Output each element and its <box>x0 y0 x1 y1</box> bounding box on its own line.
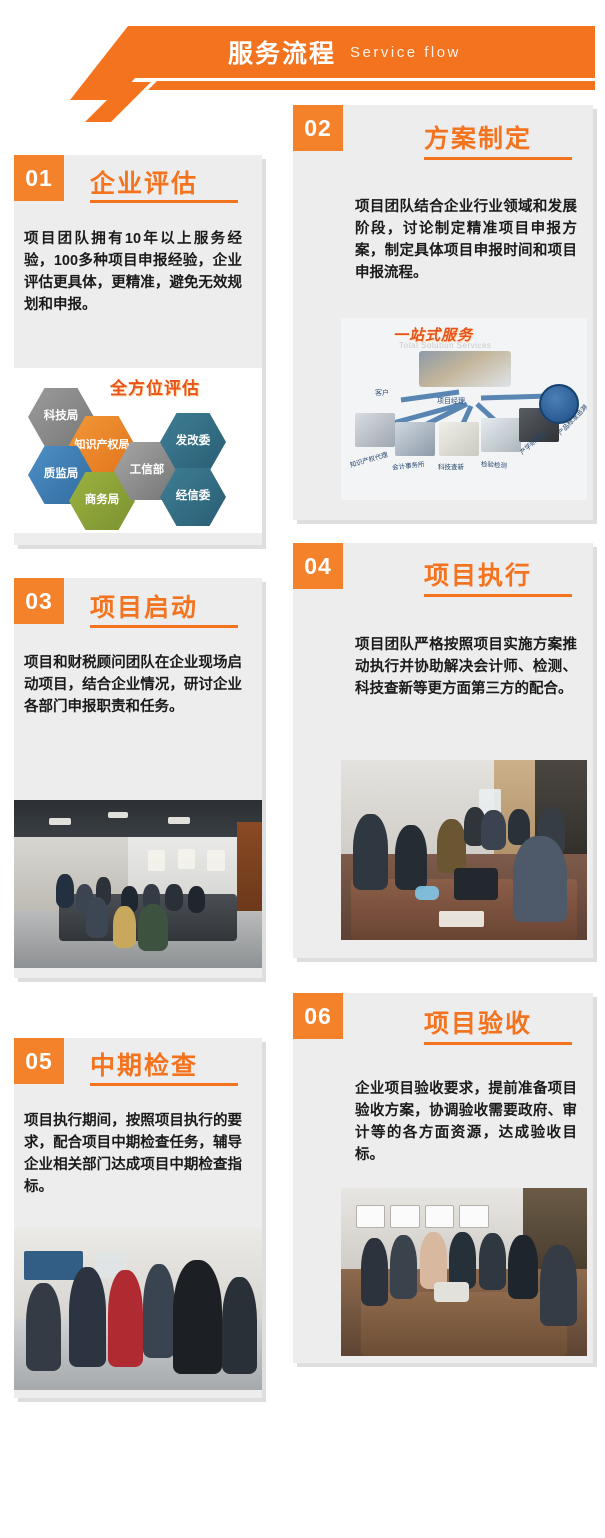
one-stop-thumb-3 <box>439 422 479 456</box>
step-title-01: 企业评估 <box>90 164 198 200</box>
header-banner: 服务流程 Service flow <box>0 0 605 100</box>
service-flow-infographic: 服务流程 Service flow 01 企业评估 项目团队拥有10年以上服务经… <box>0 0 605 1538</box>
one-stop-thumb-2 <box>395 422 435 456</box>
step-title-rule-03 <box>90 625 238 628</box>
step-title-03: 项目启动 <box>90 588 198 624</box>
one-stop-thumb-1 <box>355 413 395 447</box>
page-subtitle: Service flow <box>350 44 461 61</box>
one-stop-hero-photo <box>419 351 511 387</box>
step-title-02: 方案制定 <box>424 119 532 155</box>
step-number-badge-06: 06 <box>293 993 343 1039</box>
page-title: 服务流程 <box>228 34 336 70</box>
photo-boardroom <box>341 1188 587 1356</box>
step-number-badge-05: 05 <box>14 1038 64 1084</box>
step-body-06: 企业项目验收要求，提前准备项目验收方案，协调验收需要政府、审计等的各方面资源，达… <box>355 1078 577 1166</box>
step-body-02: 项目团队结合企业行业领域和发展阶段，讨论制定精准项目申报方案，制定具体项目申报时… <box>355 196 577 284</box>
one-stop-label-pm: 项目经理 <box>437 396 465 406</box>
one-stop-service-diagram: 一站式服务 Total Solution Services 客户 项目经理 知识… <box>341 318 587 500</box>
step-body-05: 项目执行期间，按照项目执行的要求，配合项目中期检查任务，辅导企业相关部门达成项目… <box>24 1110 242 1198</box>
one-stop-thumb-4 <box>481 418 521 452</box>
step-title-rule-02 <box>424 157 572 160</box>
header-underline-stripe <box>148 81 595 90</box>
photo-conference-room <box>14 800 262 968</box>
step-number-badge-01: 01 <box>14 155 64 201</box>
hexagon-assessment-diagram: 全方位评估 科技局 知识产权局 质监局 商务局 工信部 发改委 经信委 <box>14 368 262 533</box>
step-number-badge-02: 02 <box>293 105 343 151</box>
step-body-03: 项目和财税顾问团队在企业现场启动项目，结合企业情况，研讨企业各部门申报职责和任务… <box>24 652 242 718</box>
header-title-group: 服务流程 Service flow <box>228 30 461 74</box>
photo-site-visit <box>14 1228 262 1390</box>
step-title-05: 中期检查 <box>90 1046 198 1082</box>
step-body-01: 项目团队拥有10年以上服务经验，100多种项目申报经验，企业评估更具体，更精准，… <box>24 228 242 316</box>
photo-meeting-laptops <box>341 760 587 940</box>
step-title-rule-04 <box>424 594 572 597</box>
step-number-badge-03: 03 <box>14 578 64 624</box>
one-stop-caption-4: 检验检测 <box>481 458 508 470</box>
hex-diagram-title: 全方位评估 <box>110 374 200 399</box>
one-stop-caption-3: 科技查新 <box>438 461 464 471</box>
footer-banner: 全国统一热线： 400-150-1560 <box>0 1420 605 1530</box>
one-stop-label-customer: 客户 <box>375 388 389 398</box>
step-body-04: 项目团队严格按照项目实施方案推动执行并协助解决会计师、检测、科技查新等更方面第三… <box>355 634 577 700</box>
step-title-rule-01 <box>90 200 238 203</box>
step-title-06: 项目验收 <box>424 1004 532 1040</box>
step-number-badge-04: 04 <box>293 543 343 589</box>
step-title-rule-05 <box>90 1083 238 1086</box>
step-title-04: 项目执行 <box>424 556 532 592</box>
step-title-rule-06 <box>424 1042 572 1045</box>
